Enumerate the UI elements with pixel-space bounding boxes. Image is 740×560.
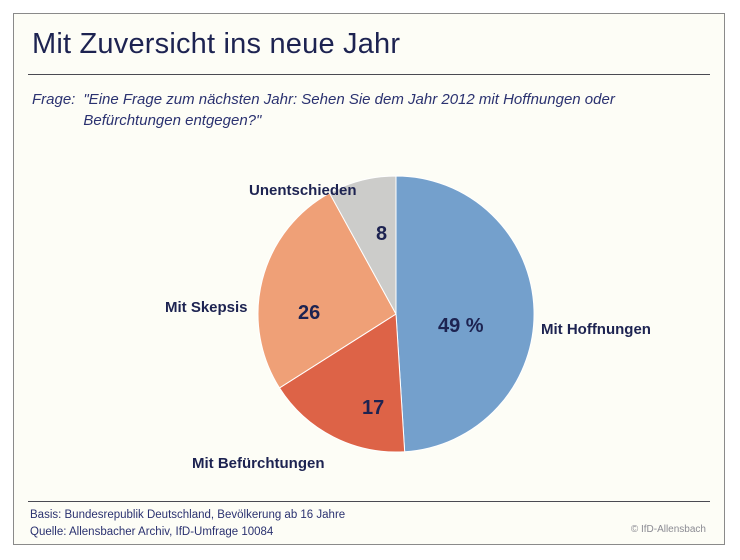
copyright-notice: © IfD-Allensbach xyxy=(631,524,706,535)
slice-value-mit-befuerchtungen: 17 xyxy=(362,397,384,420)
title-divider xyxy=(28,74,710,75)
category-label-mit-hoffnungen: Mit Hoffnungen xyxy=(541,321,651,338)
pie-slice xyxy=(396,176,534,452)
question-block: Frage:"Eine Frage zum nächsten Jahr: Seh… xyxy=(32,89,692,131)
slice-value-unentschieden: 8 xyxy=(376,223,387,246)
category-label-mit-skepsis: Mit Skepsis xyxy=(165,299,248,316)
pie-svg xyxy=(256,174,536,454)
pie-slice xyxy=(279,314,404,452)
footer-basis: Basis: Bundesrepublik Deutschland, Bevöl… xyxy=(30,507,710,524)
slice-value-mit-hoffnungen: 49 % xyxy=(438,315,484,338)
footer-block: Basis: Bundesrepublik Deutschland, Bevöl… xyxy=(30,507,710,541)
page-title: Mit Zuversicht ins neue Jahr xyxy=(32,28,400,61)
footer-quelle: Quelle: Allensbacher Archiv, IfD-Umfrage… xyxy=(30,524,710,541)
category-label-unentschieden: Unentschieden xyxy=(249,182,357,199)
question-label: Frage: xyxy=(32,89,75,110)
pie-slice xyxy=(330,176,396,314)
category-label-mit-befuerchtungen: Mit Befürchtungen xyxy=(192,455,325,472)
pie-slice xyxy=(258,193,396,388)
footer-divider xyxy=(28,501,710,502)
slide-canvas: Mit Zuversicht ins neue Jahr Frage:"Eine… xyxy=(13,13,725,545)
question-text: "Eine Frage zum nächsten Jahr: Sehen Sie… xyxy=(83,89,683,131)
slice-value-mit-skepsis: 26 xyxy=(298,302,320,325)
